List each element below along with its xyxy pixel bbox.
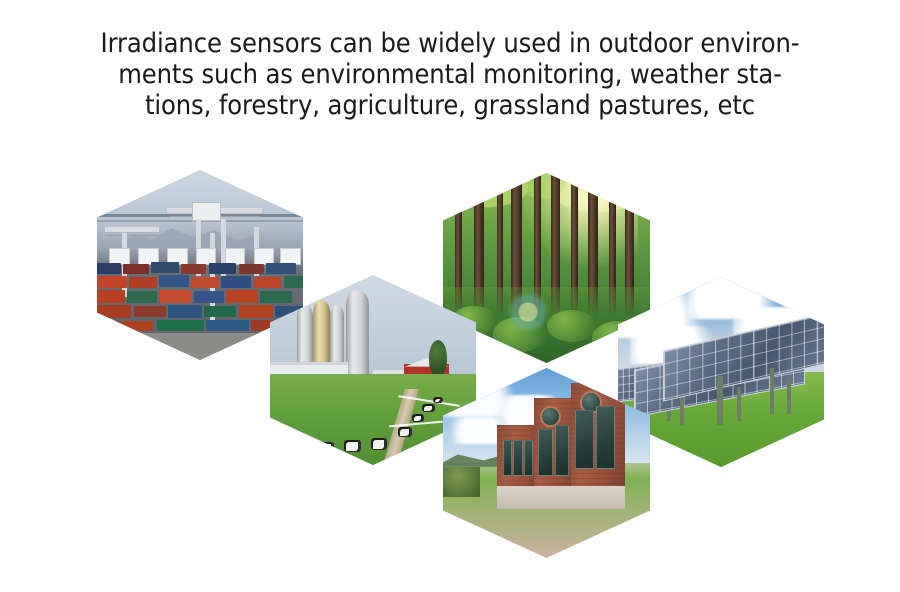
window-3 bbox=[524, 440, 533, 476]
cow-7 bbox=[422, 404, 434, 412]
cow-8 bbox=[433, 397, 443, 404]
shrub-flowering bbox=[443, 467, 480, 497]
evergreen-tree bbox=[429, 340, 448, 376]
caption-line-3: tions, forestry, agriculture, grassland … bbox=[0, 90, 900, 121]
cow-2 bbox=[315, 442, 334, 453]
panel-post-4 bbox=[737, 387, 741, 421]
caption-line-2: ments such as environmental monitoring, … bbox=[0, 59, 900, 90]
cow-6 bbox=[412, 414, 424, 423]
lens-flare bbox=[501, 291, 555, 333]
gantry-crane-boom-2 bbox=[105, 227, 159, 232]
cow-4 bbox=[371, 438, 387, 449]
page-caption: Irradiance sensors can be widely used in… bbox=[0, 28, 900, 121]
cow-5 bbox=[398, 427, 412, 437]
panel-post-3 bbox=[680, 395, 684, 425]
hexagon-image-collage bbox=[0, 140, 900, 592]
window-4 bbox=[538, 429, 552, 477]
round-window-1 bbox=[540, 406, 561, 427]
caption-line-1: Irradiance sensors can be widely used in… bbox=[0, 28, 900, 59]
window-5 bbox=[555, 425, 569, 476]
building-stone-base bbox=[497, 486, 625, 509]
window-6 bbox=[575, 410, 594, 469]
panel-post-main bbox=[717, 376, 723, 425]
window-1 bbox=[503, 440, 512, 476]
cow-3 bbox=[344, 440, 360, 451]
panel-post-6 bbox=[770, 368, 774, 414]
window-2 bbox=[513, 440, 522, 476]
cow-1 bbox=[291, 438, 310, 449]
window-7 bbox=[596, 406, 615, 469]
panel-post-5 bbox=[787, 380, 791, 414]
